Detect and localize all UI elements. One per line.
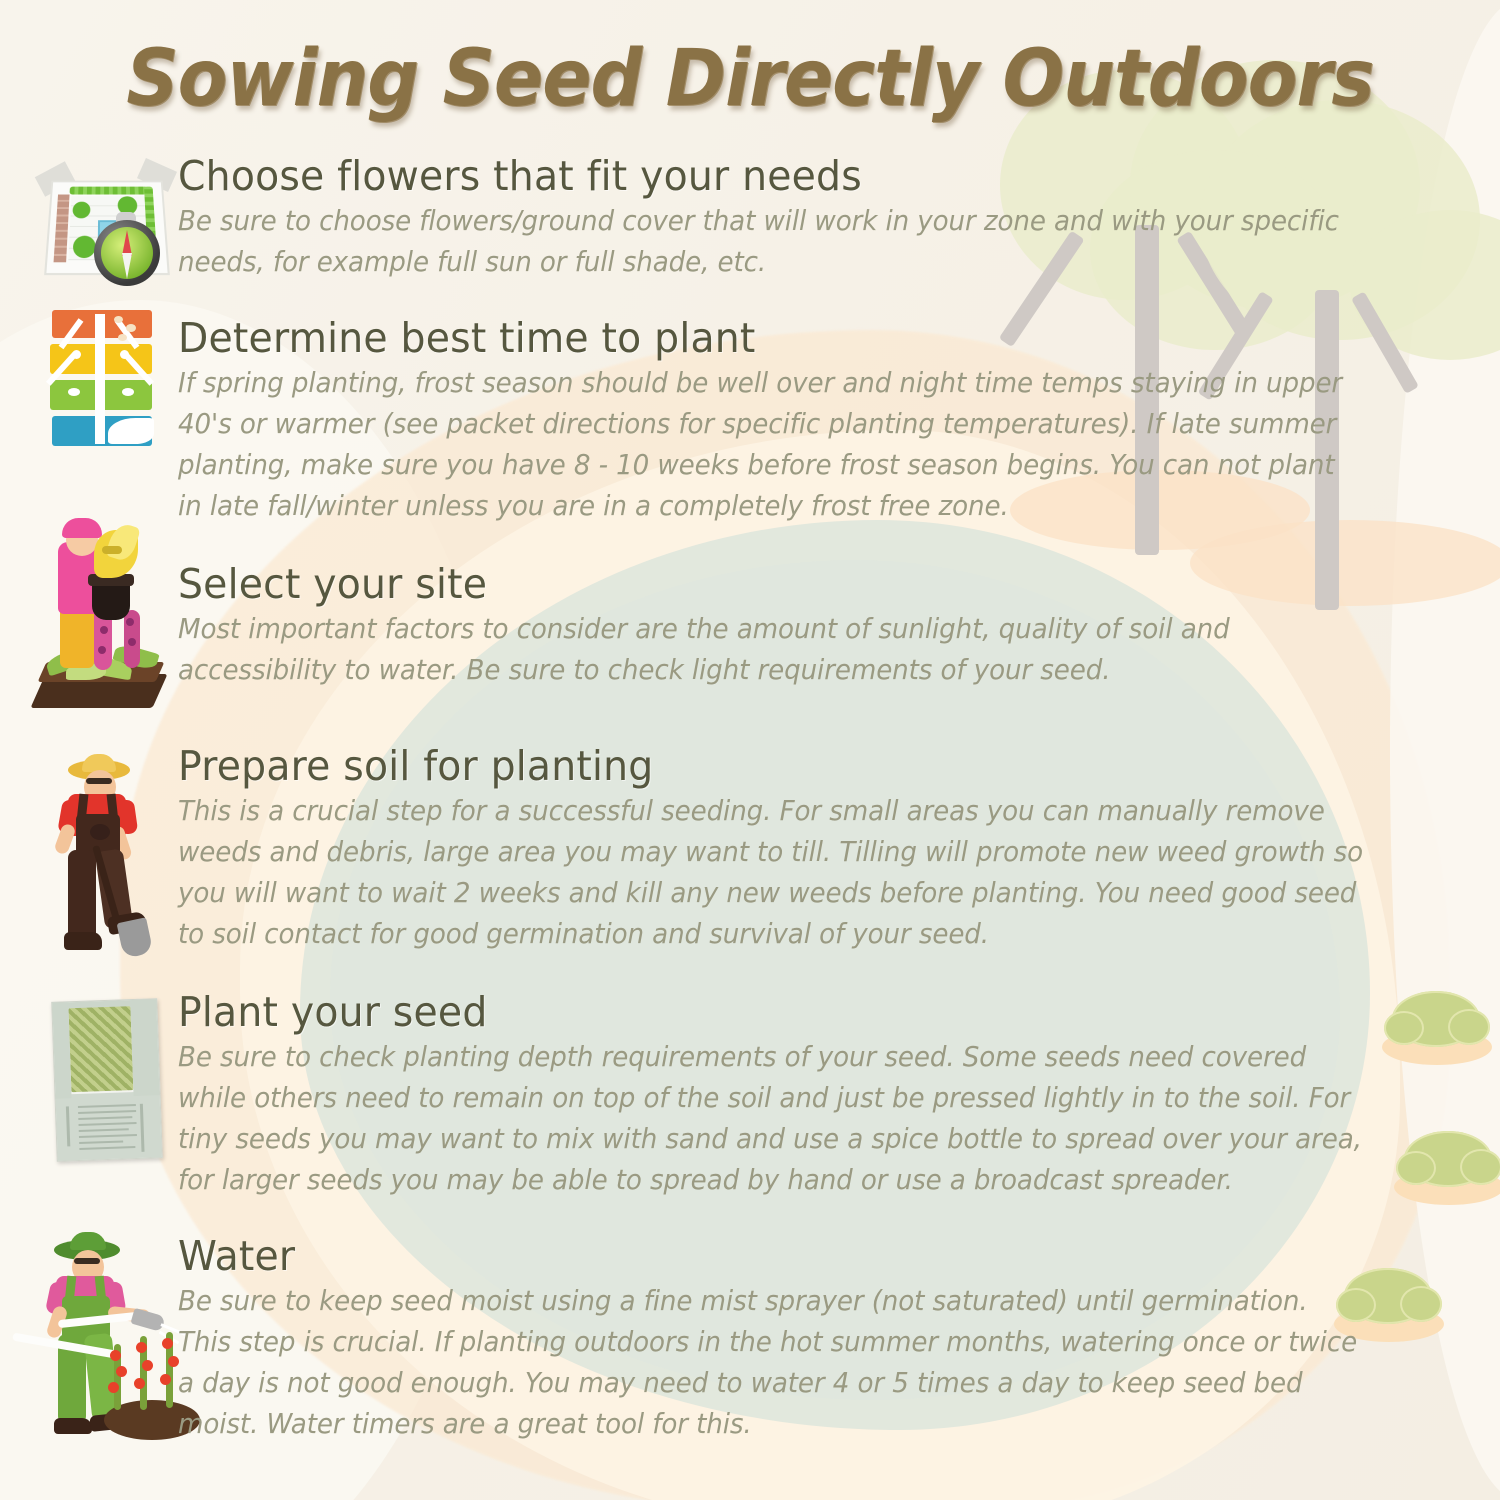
section-body: Be sure to choose flowers/ground cover t…: [178, 201, 1366, 283]
seed-packet-icon: [52, 996, 164, 1164]
section-heading: Select your site: [178, 560, 1378, 608]
gardener-with-potted-flower-icon: [32, 506, 180, 718]
section-prepare-soil: Prepare soil for planting This is a cruc…: [178, 742, 1428, 955]
section-plant-seed: Plant your seed Be sure to check plantin…: [178, 988, 1428, 1201]
garden-plan-compass-icon: [36, 158, 176, 298]
section-body: This is a crucial step for a successful …: [178, 791, 1366, 955]
section-heading: Determine best time to plant: [178, 314, 1378, 362]
section-water: Water Be sure to keep seed moist using a…: [178, 1232, 1428, 1445]
section-determine-time: Determine best time to plant If spring p…: [178, 314, 1428, 527]
four-seasons-tree-icon: [48, 310, 156, 450]
farmer-with-shovel-icon: [34, 752, 174, 958]
section-choose-flowers: Choose flowers that fit your needs Be su…: [178, 152, 1428, 283]
infographic-poster: Sowing Seed Directly Outdoors: [0, 0, 1500, 1500]
page-title: Sowing Seed Directly Outdoors: [53, 34, 1448, 124]
section-heading: Water: [178, 1232, 1378, 1280]
section-body: If spring planting, frost season should …: [178, 363, 1366, 527]
section-select-site: Select your site Most important factors …: [178, 560, 1428, 691]
section-body: Be sure to check planting depth requirem…: [178, 1037, 1366, 1201]
section-heading: Prepare soil for planting: [178, 742, 1378, 790]
gardener-watering-icon: [28, 1232, 196, 1448]
section-body: Be sure to keep seed moist using a fine …: [178, 1281, 1366, 1445]
section-heading: Choose flowers that fit your needs: [178, 152, 1378, 200]
section-heading: Plant your seed: [178, 988, 1378, 1036]
section-body: Most important factors to consider are t…: [178, 609, 1366, 691]
